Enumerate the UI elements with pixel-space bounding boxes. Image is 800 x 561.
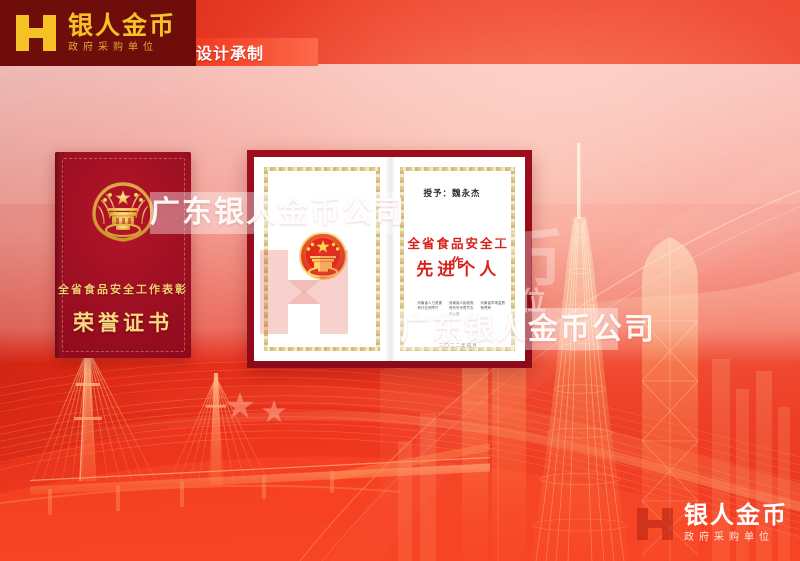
certificate-cover[interactable]: 全省食品安全工作表彰 荣誉证书 <box>55 152 191 358</box>
certificate-left-page <box>254 157 390 361</box>
issuer-3: 河南省市场监督管理局 <box>481 301 506 317</box>
issue-date: 二〇二二年四月 <box>406 343 512 349</box>
issuer-1: 河南省人力资源和社会保障厅 <box>418 301 443 317</box>
yinren-jinbi-mark-icon <box>14 13 58 53</box>
footer-logo-subtitle: 政府采购单位 <box>684 533 788 543</box>
certificate-left-content <box>270 171 376 349</box>
brand-logo[interactable]: 银人金币 政府采购单位 <box>0 0 196 66</box>
china-national-emblem-icon <box>295 229 351 283</box>
certificate-right-content: 授予：魏永杰 全省食品安全工作 先进个人 河南省人力资源和社会保障厅 河南省人民… <box>406 171 512 349</box>
award-title-line2: 先进个人 <box>406 255 512 280</box>
certificate-right-page: 授予：魏永杰 全省食品安全工作 先进个人 河南省人力资源和社会保障厅 河南省人民… <box>390 157 526 361</box>
certificate-cover-title: 荣誉证书 <box>55 307 191 337</box>
brand-logo-title: 银人金币 <box>68 13 176 38</box>
certificate-pages: 授予：魏永杰 全省食品安全工作 先进个人 河南省人力资源和社会保障厅 河南省人民… <box>254 157 525 361</box>
certificate-cover-subtitle: 全省食品安全工作表彰 <box>55 281 191 297</box>
footer-logo[interactable]: 银人金币 政府采购单位 <box>635 504 788 543</box>
top-banner-label: 设计承制 <box>196 40 264 64</box>
award-recipient: 授予：魏永杰 <box>424 187 481 199</box>
brand-logo-subtitle: 政府采购单位 <box>68 43 176 53</box>
footer-logo-title: 银人金币 <box>684 504 788 528</box>
yinren-jinbi-mark-icon <box>635 506 675 542</box>
brand-logo-text: 银人金币 政府采购单位 <box>68 13 176 53</box>
china-national-emblem-icon <box>88 178 158 244</box>
poster-canvas: 设计承制 银人金币 政府采购单位 <box>0 0 800 561</box>
footer-logo-text: 银人金币 政府采购单位 <box>684 504 788 543</box>
certificate-open[interactable]: 授予：魏永杰 全省食品安全工作 先进个人 河南省人力资源和社会保障厅 河南省人民… <box>247 150 532 368</box>
issuer-2: 河南省人民政府食品安全委员会办公室 <box>449 301 474 317</box>
issuing-authorities: 河南省人力资源和社会保障厅 河南省人民政府食品安全委员会办公室 河南省市场监督管… <box>418 301 506 317</box>
